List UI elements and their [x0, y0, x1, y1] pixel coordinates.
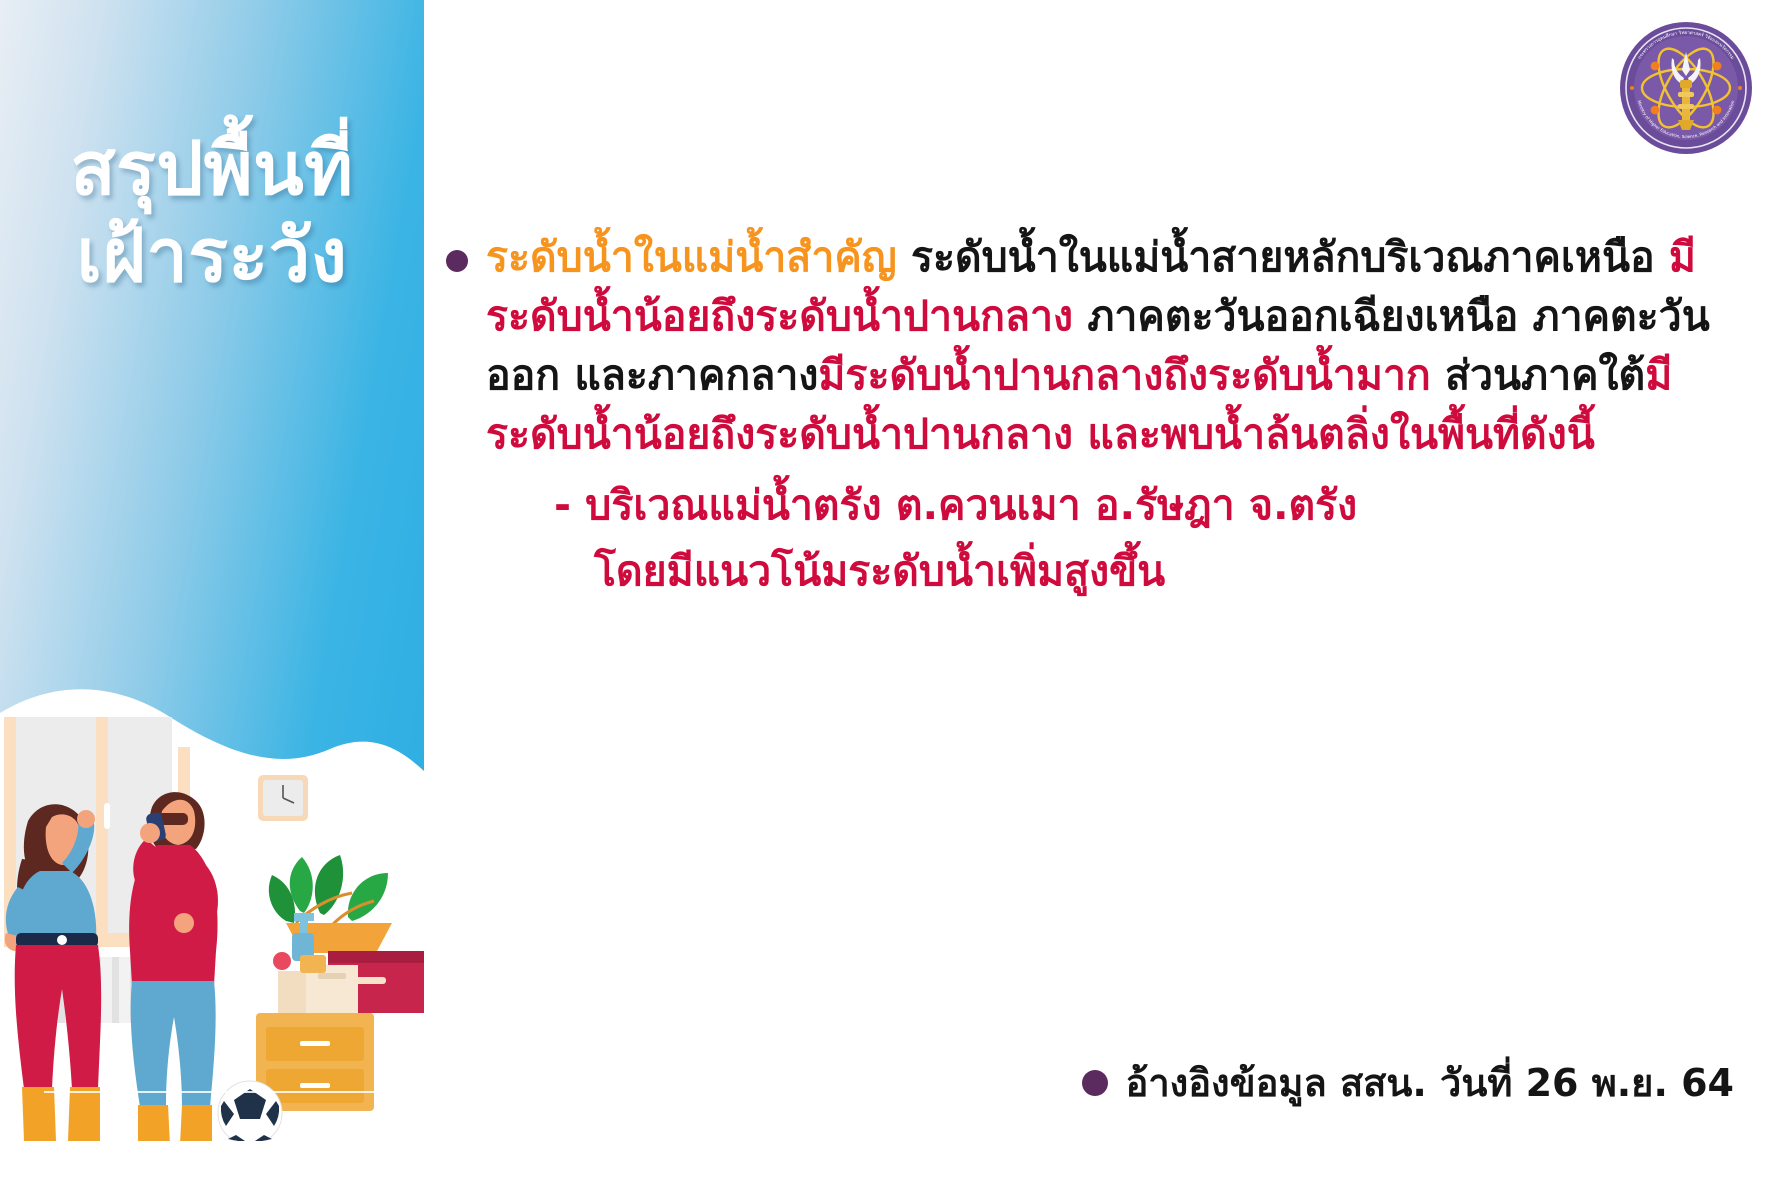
bullet-dot-icon	[446, 250, 468, 272]
paragraph-segment-1: ระดับน้ำในแม่น้ำสำคัญ	[486, 233, 897, 281]
panel-divider	[44, 1091, 384, 1093]
left-panel: สรุปพื้นที่ เฝ้าระวัง	[0, 0, 424, 1181]
source-reference-text: อ้างอิงข้อมูล สสน. วันที่ 26 พ.ย. 64	[1126, 1052, 1734, 1113]
ministry-seal-logo: กระทรวงการอุดมศึกษา วิทยาศาสตร์ วิจัยและ…	[1616, 18, 1756, 158]
page-title-line-2: เฝ้าระวัง	[0, 213, 424, 300]
page-title-line-1: สรุปพื้นที่	[0, 126, 424, 213]
main-paragraph: ระดับน้ำในแม่น้ำสำคัญ ระดับน้ำในแม่น้ำสา…	[444, 228, 1744, 464]
illustration-people-indoors	[0, 621, 424, 1181]
list-item: - บริเวณแม่น้ำตรัง ต.ควนเมา อ.รัษฎา จ.ตร…	[554, 472, 1744, 538]
paragraph-segment-2: ระดับน้ำในแม่น้ำสายหลักบริเวณภาคเหนือ	[897, 233, 1655, 281]
list-item: โดยมีแนวโน้มระดับน้ำเพิ่มสูงขึ้น	[554, 538, 1744, 604]
sub-item-list: - บริเวณแม่น้ำตรัง ต.ควนเมา อ.รัษฎา จ.ตร…	[444, 472, 1744, 604]
infographic-slide: สรุปพื้นที่ เฝ้าระวัง	[0, 0, 1772, 1181]
bullet-dot-icon	[1082, 1070, 1108, 1096]
paragraph-segment-6: ส่วนภาคใต้	[1431, 351, 1645, 399]
source-reference: อ้างอิงข้อมูล สสน. วันที่ 26 พ.ย. 64	[1082, 1052, 1734, 1113]
paragraph-segment-5: มีระดับน้ำปานกลางถึงระดับน้ำมาก	[818, 351, 1430, 399]
body-content: ระดับน้ำในแม่น้ำสำคัญ ระดับน้ำในแม่น้ำสา…	[444, 228, 1744, 604]
page-title: สรุปพื้นที่ เฝ้าระวัง	[0, 126, 424, 301]
